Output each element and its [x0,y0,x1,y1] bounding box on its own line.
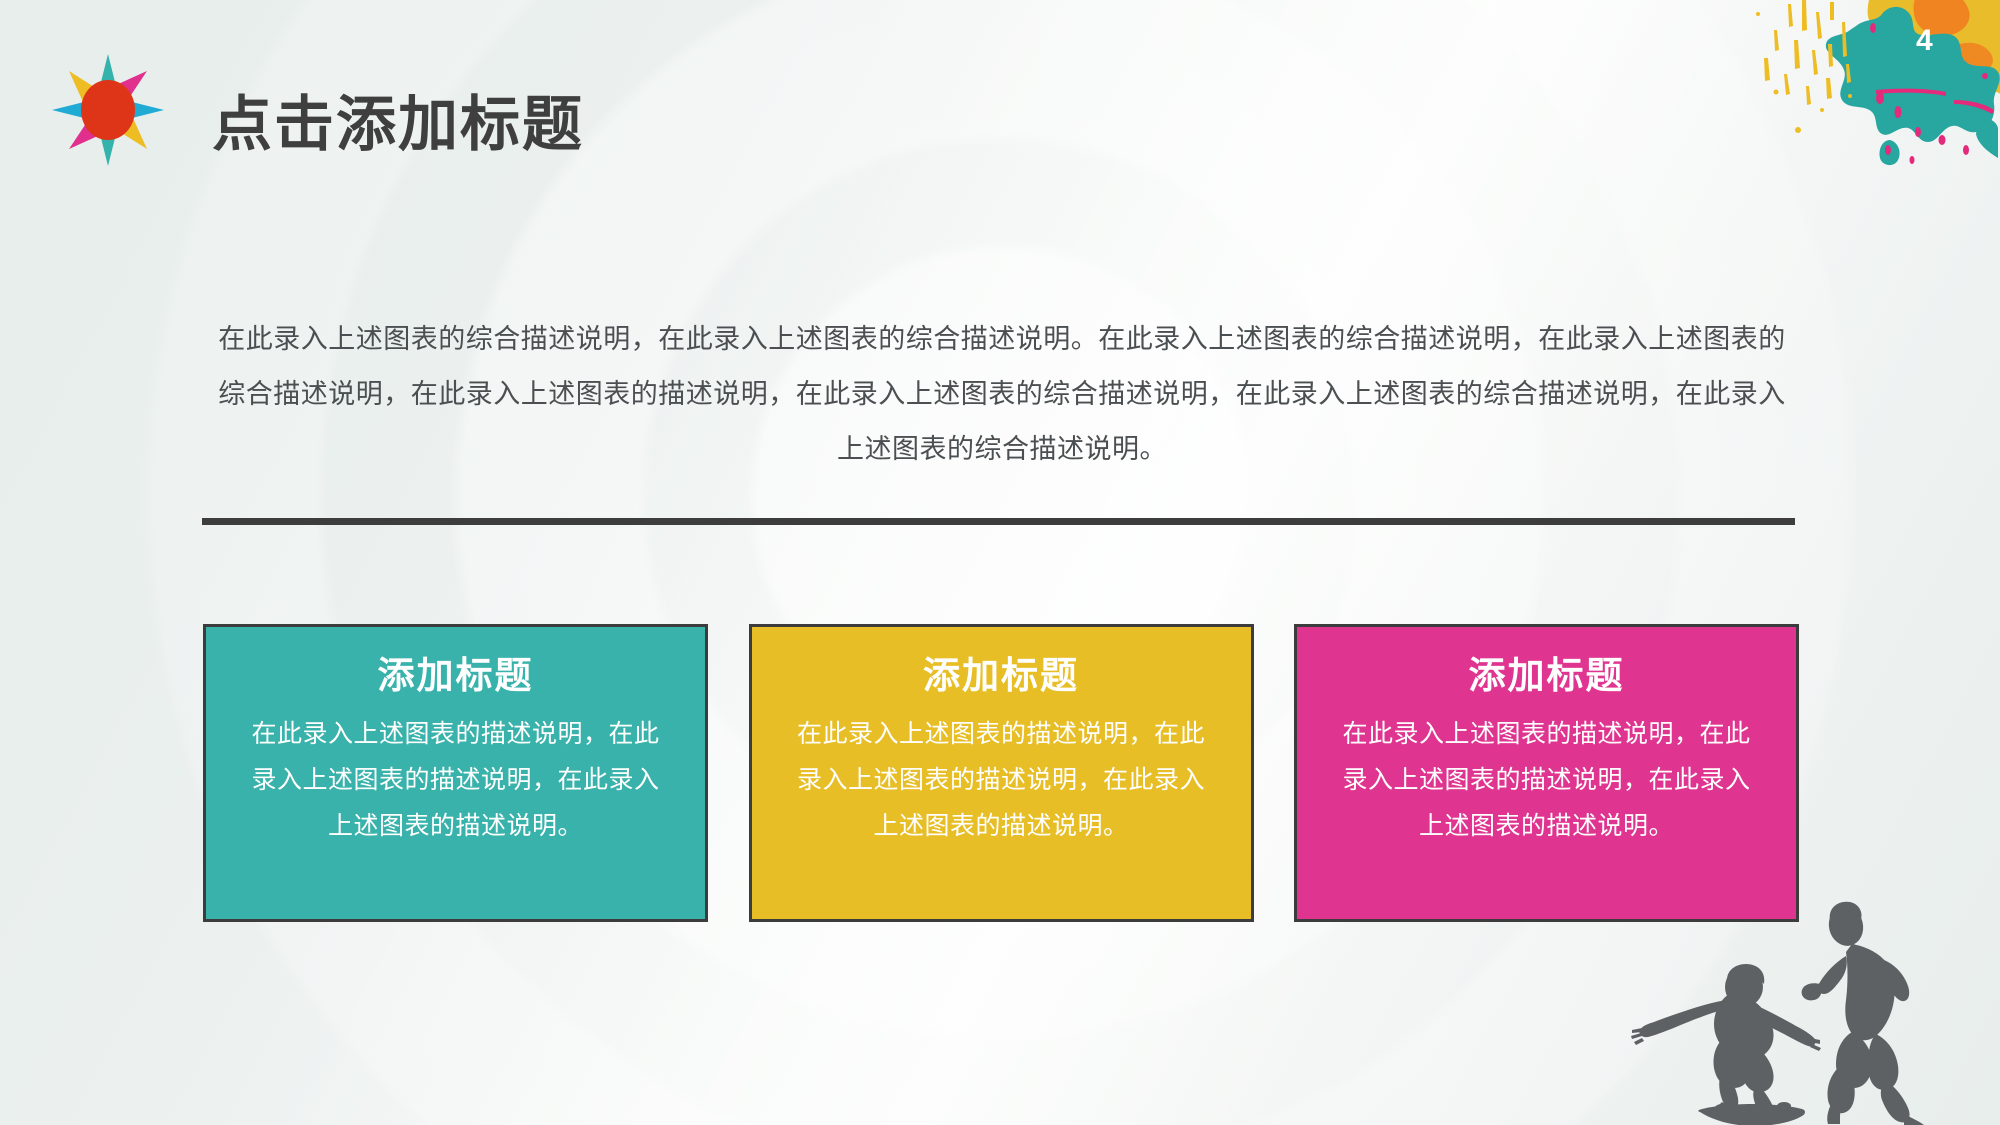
sun-icon [48,50,168,170]
sun-logo [48,50,168,170]
card-1[interactable]: 添加标题 在此录入上述图表的描述说明，在此录入上述图表的描述说明，在此录入上述图… [203,624,708,922]
card-1-body: 在此录入上述图表的描述说明，在此录入上述图表的描述说明，在此录入上述图表的描述说… [240,711,671,849]
slide-canvas: 4 点击添加标题 在此录入上述图表的综合描述说明，在此录入上述图表的综合描述说明… [0,0,2000,1125]
card-2[interactable]: 添加标题 在此录入上述图表的描述说明，在此录入上述图表的描述说明，在此录入上述图… [749,624,1254,922]
intro-paragraph: 在此录入上述图表的综合描述说明，在此录入上述图表的综合描述说明。在此录入上述图表… [212,312,1792,477]
card-2-body: 在此录入上述图表的描述说明，在此录入上述图表的描述说明，在此录入上述图表的描述说… [786,711,1217,849]
slide-header: 点击添加标题 [0,0,2000,210]
page-title: 点击添加标题 [212,76,584,163]
card-3[interactable]: 添加标题 在此录入上述图表的描述说明，在此录入上述图表的描述说明，在此录入上述图… [1294,624,1799,922]
card-3-body: 在此录入上述图表的描述说明，在此录入上述图表的描述说明，在此录入上述图表的描述说… [1331,711,1762,849]
card-3-title: 添加标题 [1331,653,1762,699]
card-1-title: 添加标题 [240,653,671,699]
cards-row: 添加标题 在此录入上述图表的描述说明，在此录入上述图表的描述说明，在此录入上述图… [203,624,1799,922]
card-2-title: 添加标题 [786,653,1217,699]
section-divider [202,518,1795,525]
